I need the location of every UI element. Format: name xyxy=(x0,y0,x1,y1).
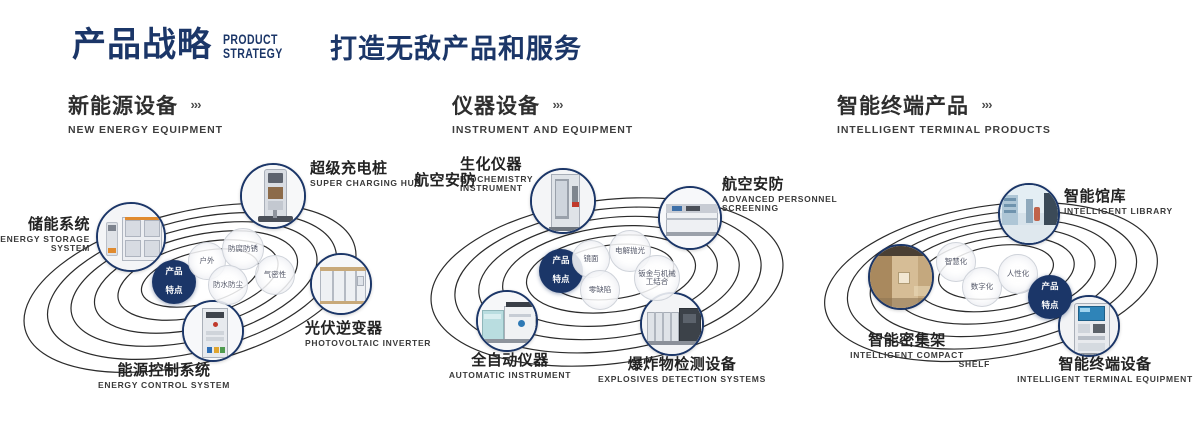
caption-cn: 超级充电桩 xyxy=(310,160,410,177)
page-title-english-line1: PRODUCT xyxy=(223,33,283,47)
feature-bubble-sheetmetal-machining[interactable]: 钣金与机械工结合 xyxy=(634,255,680,301)
node-photo-explosives-detection[interactable] xyxy=(640,292,704,356)
section-head-label-cn: 智能终端产品 xyxy=(837,96,969,117)
diagram-instrument: 生化仪器 BIOCHEMISTRY INSTRUMENT 航空安防 航空安防 A… xyxy=(400,150,820,410)
caption-en-1: PHOTOVOLTAIC INVERTER xyxy=(305,339,415,349)
photo-energy-control-system xyxy=(184,302,242,360)
caption-cn: 光伏逆变器 xyxy=(305,320,415,337)
caption-cn: 智能密集架 xyxy=(812,332,1002,349)
caption-cn: 智能终端设备 xyxy=(1010,356,1200,373)
caption-intelligent-compact-shelf: 智能密集架 INTELLIGENT COMPACT SHELF xyxy=(812,332,1002,370)
page-header: 产品战略 PRODUCT STRATEGY 打造无敌产品和服务 xyxy=(0,0,1200,88)
core-label-2: 特点 xyxy=(163,287,184,297)
page-title-english: PRODUCT STRATEGY xyxy=(223,33,283,61)
feature-label: 零缺陷 xyxy=(587,286,614,294)
node-photo-super-charging-hub[interactable] xyxy=(240,163,306,229)
node-photo-photovoltaic-inverter[interactable] xyxy=(310,253,372,315)
photo-intelligent-compact-shelf xyxy=(870,246,932,308)
caption-advanced-personnel-screening: 航空安防 ADVANCED PERSONNEL SCREENING xyxy=(722,176,832,214)
feature-bubble-digital[interactable]: 数字化 xyxy=(962,267,1002,307)
page-title: 产品战略 xyxy=(72,28,212,62)
caption-automatic-instrument: 全自动仪器 AUTOMATIC INSTRUMENT xyxy=(410,352,610,380)
core-label-1: 产品 xyxy=(550,257,571,267)
caption-en-2: SYSTEM xyxy=(0,244,90,254)
caption-intelligent-terminal-equipment: 智能终端设备 INTELLIGENT TERMINAL EQUIPMENT xyxy=(1010,356,1200,384)
photo-photovoltaic-inverter xyxy=(312,255,370,313)
feature-label: 户外 xyxy=(198,257,217,265)
caption-explosives-detection: 爆炸物检测设备 EXPLOSIVES DETECTION SYSTEMS xyxy=(582,356,782,384)
caption-cn: 能源控制系统 xyxy=(64,362,264,379)
page-title-english-line2: STRATEGY xyxy=(223,47,283,61)
caption-en-2: SHELF xyxy=(812,360,1002,370)
caption-cn: 航空安防 xyxy=(722,176,832,193)
section-head-new-energy: 新能源设备 ››› NEW ENERGY EQUIPMENT xyxy=(68,96,223,136)
caption-en-1: AUTOMATIC INSTRUMENT xyxy=(410,371,610,381)
caption-aviation-security-left: 航空安防 xyxy=(396,172,476,189)
feature-label: 智慧化 xyxy=(943,258,970,266)
core-label-2: 特点 xyxy=(550,276,571,286)
caption-energy-storage: 储能系统 ENERGY STORAGE SYSTEM xyxy=(0,216,90,254)
caption-cn: 航空安防 xyxy=(396,172,476,189)
feature-label: 电解抛光 xyxy=(613,247,647,255)
page-headline: 打造无敌产品和服务 xyxy=(330,36,582,63)
feature-label: 人性化 xyxy=(1005,270,1032,278)
feature-label: 气密性 xyxy=(262,271,289,279)
photo-super-charging-hub xyxy=(242,165,304,227)
caption-en-1: INTELLIGENT LIBRARY xyxy=(1064,207,1194,217)
feature-bubble-waterproof[interactable]: 防水防尘 xyxy=(208,265,248,305)
section-head-label-en: NEW ENERGY EQUIPMENT xyxy=(68,124,223,136)
diagram-new-energy: 储能系统 ENERGY STORAGE SYSTEM 超级充电桩 SUPER C… xyxy=(0,150,400,410)
caption-cn: 储能系统 xyxy=(0,216,90,233)
section-head-label-en: INTELLIGENT TERMINAL PRODUCTS xyxy=(837,124,1051,136)
node-photo-intelligent-compact-shelf[interactable] xyxy=(868,244,934,310)
feature-bubble-zero-defect[interactable]: 零缺陷 xyxy=(580,270,620,310)
feature-bubble-airtight[interactable]: 气密性 xyxy=(255,255,295,295)
chevron-right-icon: ››› xyxy=(190,97,200,112)
core-label-1: 产品 xyxy=(163,268,184,278)
caption-photovoltaic-inverter: 光伏逆变器 PHOTOVOLTAIC INVERTER xyxy=(305,320,415,348)
feature-label: 防腐防锈 xyxy=(226,245,260,253)
feature-label: 防水防尘 xyxy=(211,281,245,289)
caption-intelligent-library: 智能馆库 INTELLIGENT LIBRARY xyxy=(1064,188,1194,216)
feature-label: 镜面 xyxy=(582,255,601,263)
diagram-intelligent-terminal: 智能馆库 INTELLIGENT LIBRARY 智能密集架 INTELLIGE… xyxy=(820,150,1200,410)
node-photo-energy-storage[interactable] xyxy=(96,202,166,272)
node-photo-energy-control-system[interactable] xyxy=(182,300,244,362)
node-photo-intelligent-library[interactable] xyxy=(998,183,1060,245)
caption-energy-control-system: 能源控制系统 ENERGY CONTROL SYSTEM xyxy=(64,362,264,390)
caption-cn: 智能馆库 xyxy=(1064,188,1194,205)
section-head-label-cn: 新能源设备 xyxy=(68,96,178,117)
photo-explosives-detection xyxy=(642,294,702,354)
photo-energy-storage xyxy=(98,204,164,270)
photo-automatic-instrument xyxy=(478,292,536,350)
section-head-instrument: 仪器设备 ››› INSTRUMENT AND EQUIPMENT xyxy=(452,96,633,136)
caption-cn: 爆炸物检测设备 xyxy=(582,356,782,373)
node-photo-advanced-personnel-screening[interactable] xyxy=(658,186,722,250)
photo-intelligent-library xyxy=(1000,185,1058,243)
feature-label: 数字化 xyxy=(969,283,996,291)
caption-super-charging-hub: 超级充电桩 SUPER CHARGING HUB xyxy=(310,160,410,188)
caption-en-1: EXPLOSIVES DETECTION SYSTEMS xyxy=(582,375,782,385)
section-head-intelligent-terminal: 智能终端产品 ››› INTELLIGENT TERMINAL PRODUCTS xyxy=(837,96,1051,136)
node-photo-automatic-instrument[interactable] xyxy=(476,290,538,352)
feature-label: 钣金与机械工结合 xyxy=(635,270,679,287)
chevron-right-icon: ››› xyxy=(981,97,991,112)
feature-core-bubble[interactable]: 产品特点 xyxy=(1028,275,1072,319)
section-head-label-cn: 仪器设备 xyxy=(452,96,540,117)
section-head-label-en: INSTRUMENT AND EQUIPMENT xyxy=(452,124,633,136)
chevron-right-icon: ››› xyxy=(552,97,562,112)
caption-en-2: SCREENING xyxy=(722,204,832,214)
core-label-2: 特点 xyxy=(1039,302,1060,312)
core-label-1: 产品 xyxy=(1039,283,1060,293)
photo-advanced-personnel-screening xyxy=(660,188,720,248)
caption-en-1: ENERGY CONTROL SYSTEM xyxy=(64,381,264,391)
caption-en-1: INTELLIGENT TERMINAL EQUIPMENT xyxy=(1010,375,1200,385)
caption-cn: 全自动仪器 xyxy=(410,352,610,369)
caption-en-1: SUPER CHARGING HUB xyxy=(310,179,410,189)
